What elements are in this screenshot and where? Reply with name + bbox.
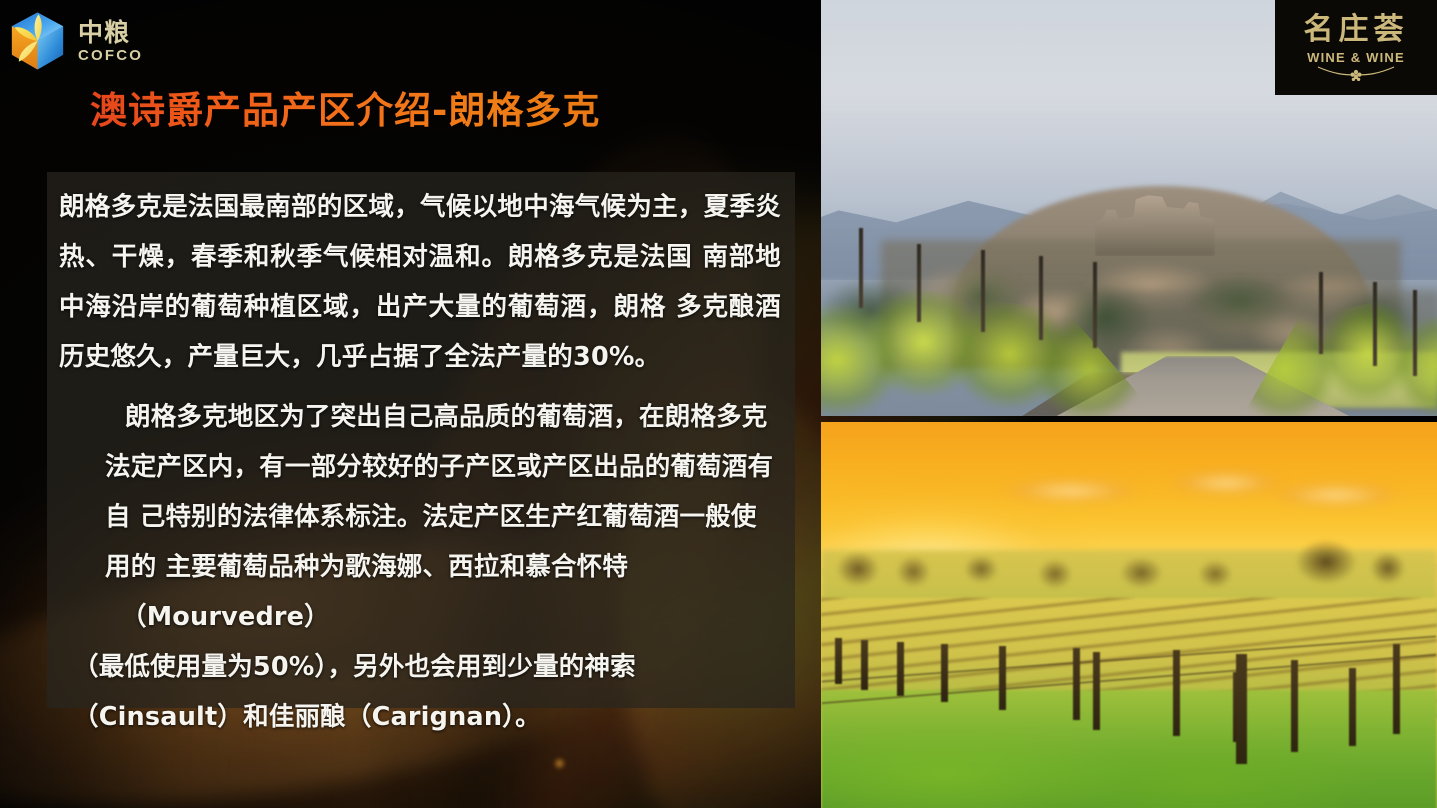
grape-cluster-icon [1316,65,1396,81]
paragraph-two-line: （Cinsault）和佳丽酿（Carignan）。 [63,692,779,742]
cofco-wordmark: 中粮 COFCO [78,20,143,63]
paragraph-two-line: （最低使用量为50%），另外也会用到少量的神索 [63,642,779,692]
vine-post [1373,282,1377,366]
vine-post [1319,272,1323,354]
fence-post [1173,650,1180,736]
fence-post [861,640,868,690]
light-spark [553,757,566,770]
fence-post [897,642,904,696]
wine-logo-chinese-name: 名庄荟 [1304,15,1409,45]
fence-post [1291,660,1298,752]
slide-canvas: 中粮 COFCO 澳诗爵产品产区介绍-朗格多克 朗格多克是法国最南部的区域，气候… [0,0,1437,808]
cloud [981,474,1161,508]
cofco-cube-icon [6,9,69,73]
content-panel: 朗格多克是法国最南部的区域，气候以地中海气候为主，夏季炎热、干燥，春季和秋季气候… [47,172,795,708]
fence-post [1393,644,1400,734]
vine-post [859,228,863,308]
paragraph-two-line: 法定产区内，有一部分较好的子产区或产区出品的葡萄酒有 [63,442,779,492]
paragraph-two-line: 用的 主要葡萄品种为歌海娜、西拉和慕合怀特 [63,542,779,592]
vine-post [1413,290,1417,376]
wine-and-wine-logo: 名庄荟 WINE & WINE [1275,0,1437,95]
fence-post [1073,648,1080,720]
fence-post [835,638,842,684]
tree-line [821,532,1437,592]
cofco-logo: 中粮 COFCO [6,8,176,74]
fence-post [999,646,1006,710]
fence-post [1236,654,1247,764]
paragraph-two-line: （Mourvedre） [63,592,779,642]
wine-logo-english-name: WINE & WINE [1307,51,1405,64]
fence-post [941,644,948,702]
vine-post [1093,262,1097,348]
vine-post [981,250,985,332]
sunset-vineyard-photo [821,422,1437,808]
fence-post [1093,652,1100,730]
foreground-grass [821,690,1437,808]
cofco-english-name: COFCO [78,48,143,63]
paragraph-two-line: 自 己特别的法律体系标注。法定产区生产红葡萄酒一般使 [63,492,779,542]
vine-post [1039,256,1043,340]
vine-post [917,244,921,322]
page-title: 澳诗爵产品产区介绍-朗格多克 [90,80,600,134]
paragraph-two: 朗格多克地区为了突出自己高品质的葡萄酒，在朗格多克 法定产区内，有一部分较好的子… [47,392,787,742]
paragraph-one: 朗格多克是法国最南部的区域，气候以地中海气候为主，夏季炎热、干燥，春季和秋季气候… [47,182,787,382]
fence-post [1349,668,1356,746]
cofco-chinese-name: 中粮 [78,20,143,45]
paragraph-two-line: 朗格多克地区为了突出自己高品质的葡萄酒，在朗格多克 [63,392,779,442]
cloud [1251,478,1421,512]
